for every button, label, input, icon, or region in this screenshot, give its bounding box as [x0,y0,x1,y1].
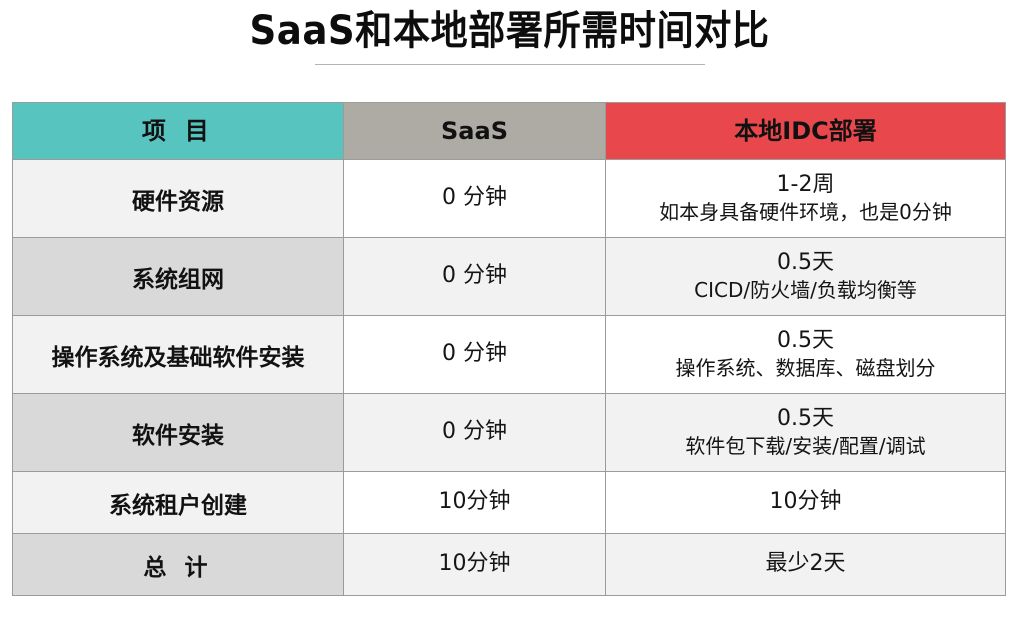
row-idc-value: 0.5天 CICD/防火墙/负载均衡等 [606,238,1006,316]
row-idc-value: 1-2周 如本身具备硬件环境，也是0分钟 [606,160,1006,238]
table-row-total: 总 计 10分钟 最少2天 [13,534,1006,596]
row-idc-value-sub: 软件包下载/安装/配置/调试 [606,434,1005,458]
row-idc-value-sub: CICD/防火墙/负载均衡等 [606,278,1005,302]
row-saas-value: 0 分钟 [344,160,606,238]
column-header-saas: SaaS [344,103,606,160]
comparison-table: 项 目 SaaS 本地IDC部署 硬件资源 0 分钟 1-2周 如本 [12,102,1006,596]
row-idc-value: 0.5天 操作系统、数据库、磁盘划分 [606,316,1006,394]
row-idc-value-main: 0.5天 [606,250,1005,277]
row-item-label: 操作系统及基础软件安装 [13,316,344,394]
table-row: 硬件资源 0 分钟 1-2周 如本身具备硬件环境，也是0分钟 [13,160,1006,238]
row-idc-value-main: 1-2周 [606,172,1005,199]
row-idc-value-main: 0.5天 [606,406,1005,433]
title-block: SaaS和本地部署所需时间对比 [0,0,1019,65]
row-idc-value: 10分钟 [606,472,1006,534]
row-saas-value-main: 0 分钟 [344,341,605,368]
row-saas-value-main: 0 分钟 [344,263,605,290]
row-saas-value-main: 0 分钟 [344,419,605,446]
column-header-item-label: 项 目 [142,117,214,145]
table-row: 操作系统及基础软件安装 0 分钟 0.5天 操作系统、数据库、磁盘划分 [13,316,1006,394]
row-idc-value-sub: 操作系统、数据库、磁盘划分 [606,356,1005,380]
row-idc-value-main: 最少2天 [606,551,1005,578]
row-saas-value: 10分钟 [344,534,606,596]
table-header-row: 项 目 SaaS 本地IDC部署 [13,103,1006,160]
row-saas-value-main: 10分钟 [344,489,605,516]
row-saas-value-main: 0 分钟 [344,185,605,212]
table-header: 项 目 SaaS 本地IDC部署 [13,103,1006,160]
title-divider [315,64,705,65]
column-header-idc-label: 本地IDC部署 [734,117,876,145]
row-item-label: 系统组网 [13,238,344,316]
row-item-label: 硬件资源 [13,160,344,238]
row-idc-value-main: 10分钟 [606,489,1005,516]
table-body: 硬件资源 0 分钟 1-2周 如本身具备硬件环境，也是0分钟 系统组网 0 分钟… [13,160,1006,596]
row-idc-value-sub: 如本身具备硬件环境，也是0分钟 [606,200,1005,224]
row-item-label: 总 计 [13,534,344,596]
row-item-label: 系统租户创建 [13,472,344,534]
table-row: 系统组网 0 分钟 0.5天 CICD/防火墙/负载均衡等 [13,238,1006,316]
column-header-idc: 本地IDC部署 [606,103,1006,160]
row-idc-value-main: 0.5天 [606,328,1005,355]
row-idc-value: 最少2天 [606,534,1006,596]
comparison-table-wrapper: 项 目 SaaS 本地IDC部署 硬件资源 0 分钟 1-2周 如本 [12,102,1005,596]
table-row: 软件安装 0 分钟 0.5天 软件包下载/安装/配置/调试 [13,394,1006,472]
column-header-saas-label: SaaS [441,117,508,145]
page-title: SaaS和本地部署所需时间对比 [36,6,984,56]
row-saas-value: 10分钟 [344,472,606,534]
row-saas-value: 0 分钟 [344,394,606,472]
row-item-label: 软件安装 [13,394,344,472]
row-saas-value: 0 分钟 [344,316,606,394]
table-row: 系统租户创建 10分钟 10分钟 [13,472,1006,534]
row-idc-value: 0.5天 软件包下载/安装/配置/调试 [606,394,1006,472]
row-saas-value-main: 10分钟 [344,551,605,578]
column-header-item: 项 目 [13,103,344,160]
row-saas-value: 0 分钟 [344,238,606,316]
